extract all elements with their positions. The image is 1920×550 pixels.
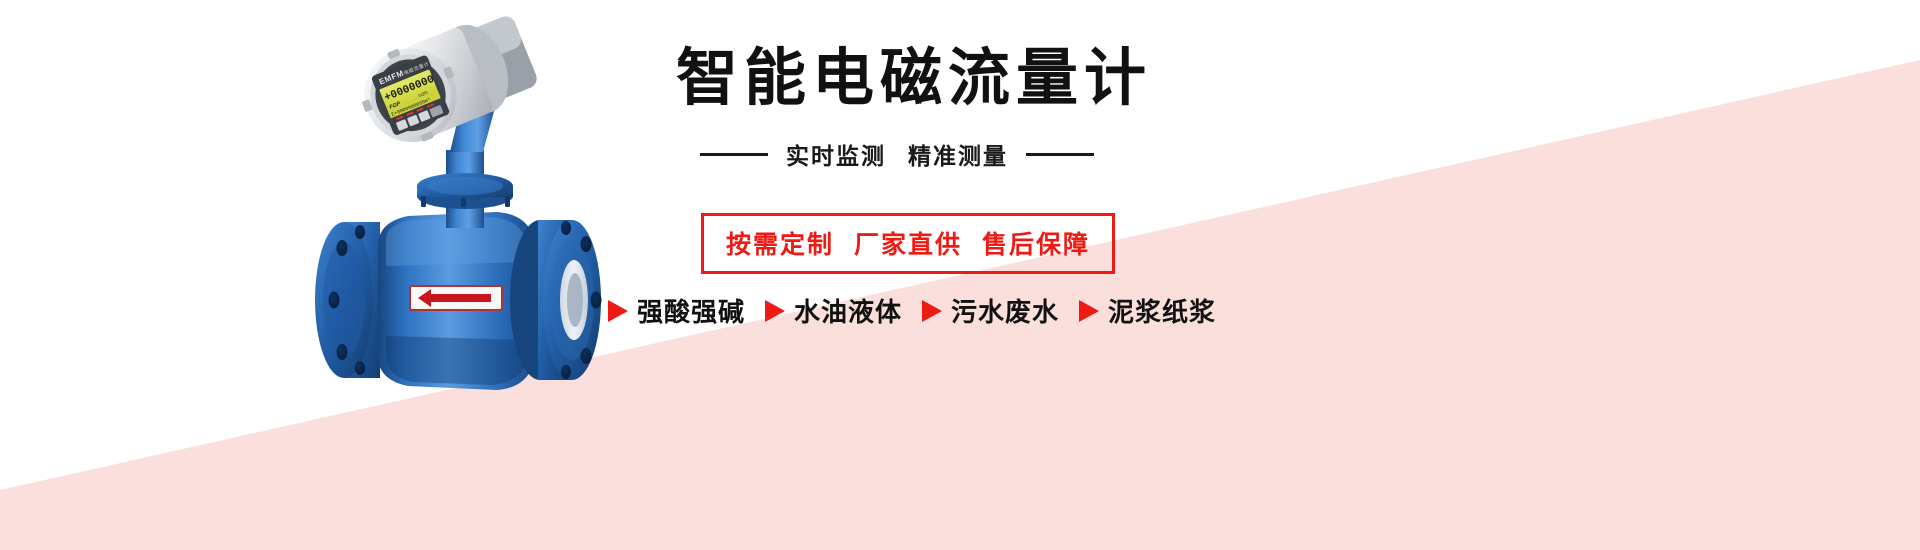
- flow-direction-label: [410, 286, 502, 310]
- flowmeter-transmitter-head: EMFM 电磁流量计 +0000000 FGP m3/h Σ+000000000…: [348, 4, 543, 157]
- subtitle-left-rule: [700, 153, 768, 156]
- subtitle-part2: 精准测量: [908, 143, 1008, 169]
- flowmeter-body: [315, 212, 602, 390]
- feature-label: 强酸强碱: [637, 292, 745, 329]
- product-image-flowmeter: EMFM 电磁流量计 +0000000 FGP m3/h Σ+000000000…: [300, 0, 640, 420]
- subtitle-text: 实时监测精准测量: [786, 137, 1008, 171]
- service-badge-text: 按需定制厂家直供售后保障: [726, 231, 1090, 259]
- subtitle-row: 实时监测精准测量: [700, 137, 1094, 171]
- subtitle-right-rule: [1026, 153, 1094, 156]
- subtitle-part1: 实时监测: [786, 143, 886, 169]
- badge-part1: 按需定制: [726, 231, 834, 259]
- feature-item: 强酸强碱: [608, 292, 745, 329]
- arrow-right-icon: [608, 300, 628, 322]
- arrow-right-icon: [765, 300, 785, 322]
- feature-item: 泥浆纸浆: [1079, 292, 1216, 329]
- promo-banner: EMFM 电磁流量计 +0000000 FGP m3/h Σ+000000000…: [0, 0, 1920, 550]
- arrow-right-icon: [1079, 300, 1099, 322]
- banner-copy-column: 智能电磁流量计 实时监测精准测量 按需定制厂家直供售后保障 强酸强碱水油液体污水…: [600, 0, 1600, 420]
- feature-list: 强酸强碱水油液体污水废水泥浆纸浆: [608, 292, 1216, 329]
- page-title: 智能电磁流量计: [676, 48, 1152, 110]
- badge-part2: 厂家直供: [854, 231, 962, 259]
- arrow-right-icon: [922, 300, 942, 322]
- badge-part3: 售后保障: [982, 231, 1090, 259]
- service-badge-box: 按需定制厂家直供售后保障: [701, 213, 1115, 274]
- feature-label: 泥浆纸浆: [1108, 292, 1216, 329]
- feature-label: 水油液体: [794, 292, 902, 329]
- feature-item: 污水废水: [922, 292, 1059, 329]
- feature-label: 污水废水: [951, 292, 1059, 329]
- feature-item: 水油液体: [765, 292, 902, 329]
